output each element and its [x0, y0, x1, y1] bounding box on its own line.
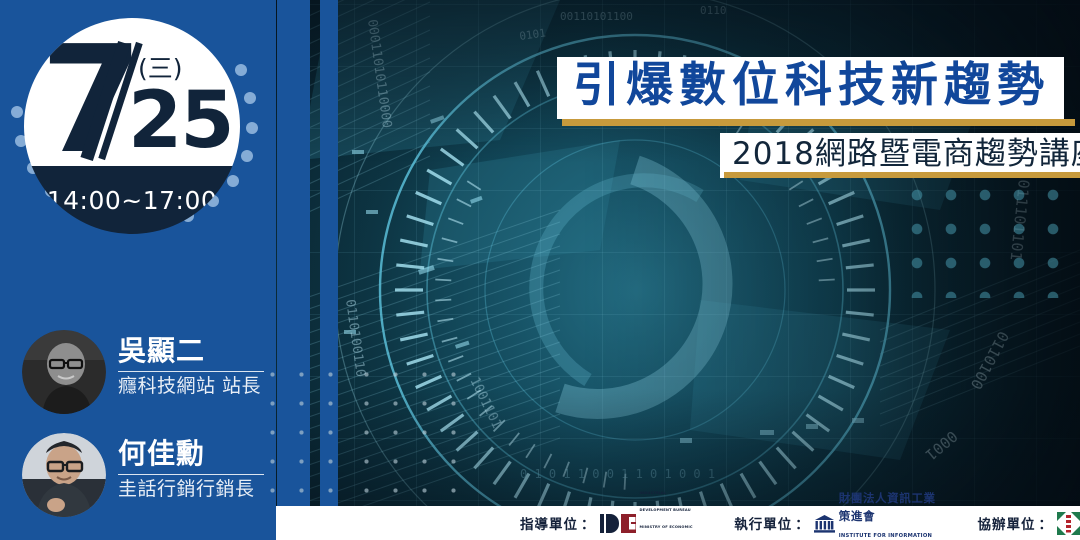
sponsor-group-executor: 執行單位 ： [734, 488, 944, 540]
speaker-card: 吳顯二 癮科技網站 站長 [22, 330, 272, 420]
speaker-photo [22, 330, 106, 414]
speaker-title: 圭話行銷行銷長 [118, 478, 268, 502]
idb-logo: INDUSTRIAL DEVELOPMENT BUREAU MINISTRY O… [600, 481, 696, 540]
speaker-divider [118, 474, 264, 475]
idb-logo-mark [600, 514, 636, 533]
idb-letter-i [600, 514, 604, 533]
iii-logo: 財團法人資訊工業策進會 INSTITUTE FOR INFORMATION IN… [814, 488, 944, 540]
idb-logo-text: INDUSTRIAL DEVELOPMENT BUREAU MINISTRY O… [640, 481, 696, 540]
speaker-portrait-2 [22, 433, 106, 517]
sponsor-group-coorganizer: 協辦單位 ： [978, 512, 1080, 535]
event-time: 14:00~17:00 [24, 186, 240, 215]
sponsor-label: 執行單位 [734, 513, 792, 533]
iii-text-en: INSTITUTE FOR INFORMATION INDUSTRY [839, 533, 932, 540]
sponsor-colon: ： [1039, 513, 1053, 533]
event-subtitle-band: 2018網路暨電商趨勢講座 [720, 133, 1080, 178]
event-title: 引爆數位科技新趨勢 [573, 60, 1050, 113]
promo-banner: 00011010110000 0110100110 1001101 101110… [0, 0, 1080, 540]
date-number-group: 7 (三) 25 [24, 18, 240, 168]
dot-matrix-mid [352, 360, 472, 510]
event-title-band: 引爆數位科技新趨勢 [557, 57, 1064, 119]
speaker-title: 癮科技網站 站長 [118, 375, 268, 399]
speaker-info: 吳顯二 癮科技網站 站長 [118, 334, 268, 398]
sponsor-label: 指導單位 [520, 513, 578, 533]
idb-letter-d [606, 514, 619, 533]
sponsor-group-advisor: 指導單位 ： INDUSTRIAL DEVELOPMENT BUREAU MIN… [520, 481, 695, 540]
idb-text-line1: INDUSTRIAL DEVELOPMENT BUREAU [640, 491, 691, 512]
dot-matrix-right [900, 178, 1080, 298]
speaker-portrait-1 [22, 330, 106, 414]
sponsor-list: 指導單位 ： INDUSTRIAL DEVELOPMENT BUREAU MIN… [520, 506, 1080, 540]
event-subtitle: 2018網路暨電商趨勢講座 [732, 136, 1080, 173]
iii-text-cn: 財團法人資訊工業策進會 [839, 491, 936, 522]
speaker-name: 吳顯二 [118, 334, 268, 368]
speaker-name: 何佳勳 [118, 437, 268, 471]
date-day: 25 [128, 82, 233, 160]
sponsor-colon: ： [581, 513, 595, 533]
sponsor-label: 協辦單位 [978, 513, 1036, 533]
iii-logo-text: 財團法人資訊工業策進會 INSTITUTE FOR INFORMATION IN… [839, 488, 944, 540]
speaker-photo [22, 433, 106, 517]
event-date-badge: 7 (三) 25 14:00~17:00 [24, 18, 240, 234]
sponsor-colon: ： [795, 513, 809, 533]
idb-text-line2: MINISTRY OF ECONOMIC AFFAIRS [640, 525, 693, 540]
idb-letter-b [621, 514, 636, 533]
speaker-divider [118, 371, 264, 372]
subtitle-accent-bar [724, 172, 1080, 178]
co-organizer-logo [1057, 512, 1080, 535]
speaker-card: 何佳勳 圭話行銷行銷長 [22, 433, 272, 523]
sponsor-footer: 指導單位 ： INDUSTRIAL DEVELOPMENT BUREAU MIN… [276, 506, 1080, 540]
speaker-info: 何佳勳 圭話行銷行銷長 [118, 437, 268, 501]
bank-building-icon [814, 514, 835, 533]
title-accent-bar [562, 119, 1075, 126]
